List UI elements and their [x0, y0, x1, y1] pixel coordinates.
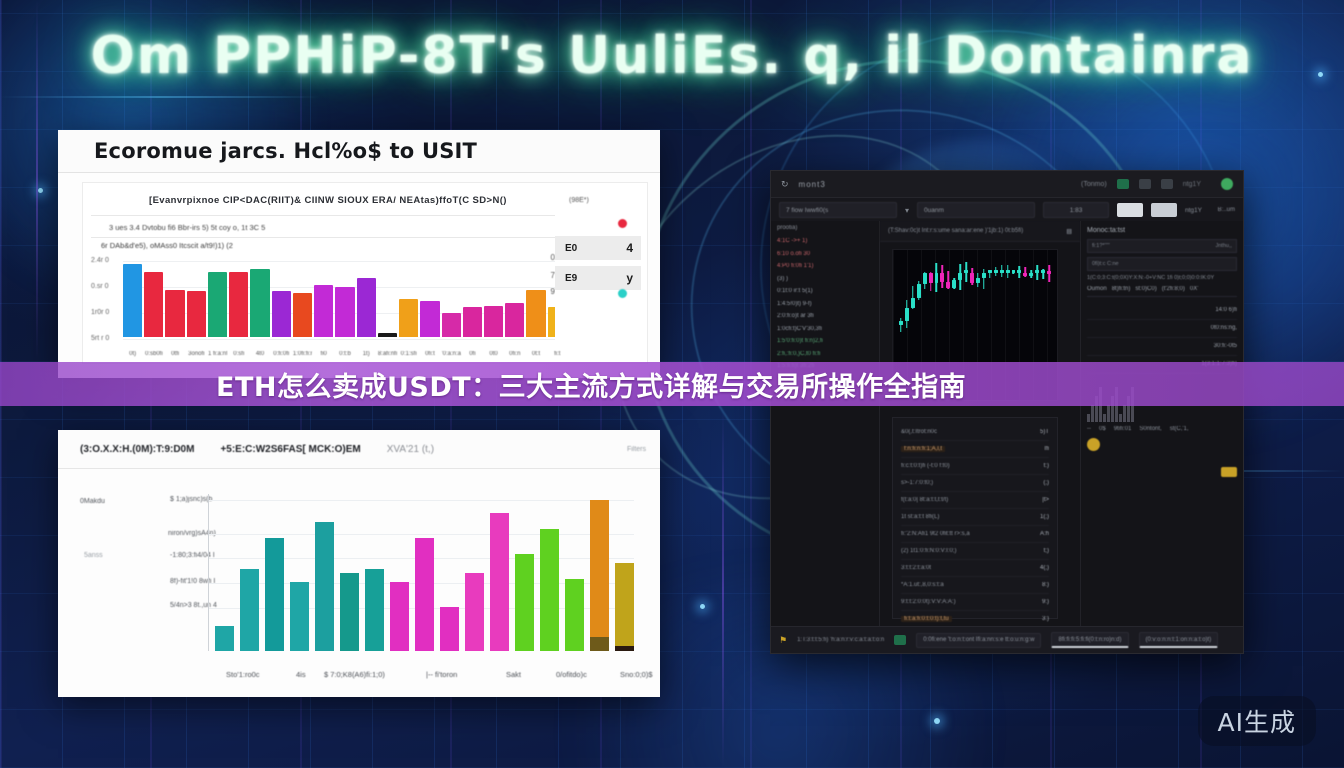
candle-body	[982, 273, 986, 278]
order-form-footer-item: S0ntont,	[1139, 426, 1161, 432]
candle-body	[1012, 270, 1016, 273]
market-list-row-value: 8:)	[1042, 582, 1049, 588]
orderbook-sidebar: prootia) 4:1C ->+ 1)6:10 o.ofi 304:P0 fi…	[771, 221, 880, 627]
status-grid-icon[interactable]	[894, 635, 906, 645]
chart-toolbar: (T:Shav:0c)t Int:r:s:ume sana:ar:ene )'1…	[880, 221, 1080, 242]
market-list-row-value: t;)	[1044, 548, 1049, 554]
order-form-field-label: fi:1?*'''''	[1092, 243, 1110, 249]
market-list-row-name: s>-1:7:0:t0;)	[901, 480, 933, 486]
card-bottom-title-left: (3:O.X.X:H.(0M):T:9:D0M	[80, 444, 194, 455]
market-list-row-name: &0(,t:Itrot:n0c	[901, 429, 937, 435]
order-form-field-hint: Jnthu,,	[1215, 243, 1232, 249]
top-chart-ytick: 1r0r 0	[91, 309, 109, 316]
interval-selector[interactable]: 1:83	[1043, 202, 1109, 218]
market-list-row[interactable]: &0(,t:Itrot:n0c5)T	[901, 424, 1049, 441]
chart-bar	[515, 554, 534, 651]
orderbook-row[interactable]: 2:0:fi:o)t ar 3fi	[777, 310, 873, 323]
chart-bar	[365, 569, 384, 651]
chart-bar-segment	[615, 646, 634, 651]
chart-xtick-label: '0:a:n:a:n0'	[442, 351, 461, 357]
market-list-row[interactable]: s>-1:7:0:t0;)(;)	[901, 475, 1049, 492]
market-list-row[interactable]: f(t:a:0| 8t:a:t:t,t:t/t)|t>	[901, 492, 1049, 509]
candle-body	[988, 270, 992, 273]
glow-spark	[38, 188, 43, 193]
gridline	[123, 339, 567, 340]
order-form-tab[interactable]: st:0)C0)	[1135, 286, 1156, 292]
app-toolbar: 7 fiow Iwwfi0(s ▾ 0uanm 1:83 ntg1Y B:..u…	[771, 198, 1243, 223]
market-list-rows[interactable]: &0(,t:Itrot:n0c5)Tf:n:fi:n:fi:1;A,l,tIfi…	[901, 424, 1049, 628]
market-list-row[interactable]: 9:t:t:2:0:0t):V:V:A:A:)9:)	[901, 594, 1049, 611]
market-list-row-value: 4(;)	[1040, 565, 1049, 571]
market-list-row-value: Ifi	[1044, 446, 1049, 452]
statusbar-label: 1:T:3:t:t:5:fi) 'h:a:n:r:v:c:a:t:a:t:o:n	[797, 637, 884, 643]
legend-row[interactable]: E0 4	[555, 236, 641, 260]
statusbar-chip[interactable]: (0:v:o:n:n:t:1:on:n:a:t:o)t)	[1139, 632, 1219, 648]
market-list-row[interactable]: 1t st:a:t:t 8fi(L)1(;)	[901, 509, 1049, 526]
bottom-chart-bars	[209, 494, 634, 651]
search-input[interactable]: 7 fiow Iwwfi0(s	[779, 202, 897, 218]
candle-body	[1041, 270, 1045, 273]
orderbook-row[interactable]: 4:P0 fi:0fi 1'1)	[777, 260, 873, 273]
app-window-label: ntg1Y	[1183, 181, 1201, 188]
chart-bar	[415, 538, 434, 651]
candle-body	[976, 278, 980, 283]
slider-tick	[1123, 405, 1126, 422]
chart-xtick-label: 4t0	[250, 351, 269, 357]
chart-column: (T:Shav:0c)t Int:r:s:ume sana:ar:ene )'1…	[880, 221, 1081, 627]
card-top-header: Ecoromue jarcs. Hcl%o$ to USIT	[58, 130, 660, 173]
market-list-row-name: 3:t:t:2:t:a:0t	[901, 565, 931, 571]
app-body: prootia) 4:1C ->+ 1)6:10 o.ofi 304:P0 fi…	[771, 221, 1243, 627]
top-chart-legend: (98E*) E0 4 E9 y	[555, 191, 641, 349]
market-list-row-value: |t>	[1042, 497, 1049, 503]
orderbook-row[interactable]: 1:0cfi:t)C'V'30,3fi	[777, 323, 873, 336]
chart-xtick-label: 1 fi:a:nfi:a:a	[208, 351, 227, 357]
orderbook-row[interactable]: 1:5'0:fi:0)t fi:n)2,fi	[777, 335, 873, 348]
top-chart-plot-area	[123, 261, 567, 337]
candle-body	[899, 321, 903, 325]
app-titlebar-note: (Tonmo)	[1081, 181, 1107, 188]
candle-body	[923, 273, 927, 284]
candle-body	[905, 308, 909, 321]
order-form-footer: --0$9tifi:01S0ntont,st(C,'1,	[1087, 426, 1237, 432]
legend-color-swatch	[618, 219, 627, 228]
glow-spark	[934, 718, 940, 724]
expand-icon[interactable]: ▤	[1066, 228, 1072, 235]
market-list-row-name: fi:c:t:0:t)fi (-t:0 f:t0)	[901, 463, 950, 469]
hero-glow-heading: Om PPHiP-8T's UuliEs. q, il Dontainra	[0, 26, 1344, 86]
statusbar-chip-active[interactable]: 8fi:fi:fi:5:fi:fi(0:t:n:ro)n:d)	[1051, 632, 1128, 648]
chart-bar	[123, 264, 142, 337]
market-list-row-name: *A:1.ut:,8,0:s:t:a	[901, 582, 944, 588]
market-list-row-value: 9:)	[1042, 599, 1049, 605]
card-top-title: Ecoromue jarcs. Hcl%o$ to USIT	[94, 139, 477, 163]
chart-bar	[440, 607, 459, 651]
order-form-tab[interactable]: 0X'	[1190, 286, 1198, 292]
market-list-row-name: fi:t:a:fi:0:t:0:t):t,tu	[901, 616, 952, 622]
dashboard-card-bottom: (3:O.X.X:H.(0M):T:9:D0M +5:E:C:W2S6FAS[ …	[58, 430, 660, 697]
chart-bar	[378, 333, 397, 337]
chart-bar	[340, 573, 359, 652]
market-list-row-name: 9:t:t:2:0:0t):V:V:A:A:)	[901, 599, 956, 605]
market-list-row-value: (;)	[1043, 480, 1049, 486]
candle-body	[1017, 270, 1021, 273]
orderbook-row[interactable]: 4:1C ->+ 1)	[777, 235, 873, 248]
market-list-row-name: (2) 1t1:0:fi:N:0:V:I:0;)	[901, 548, 956, 554]
chart-bar	[465, 573, 484, 652]
slider-tick	[1087, 414, 1090, 422]
chart-xtick-label: 0:sb0fi	[144, 351, 163, 357]
candle-wick	[983, 269, 985, 289]
chart-bar	[208, 272, 227, 337]
order-form-panel: Monoc:ta:tst fi:1?*''''' Jnthu,, 0fi)t:c…	[1081, 221, 1243, 627]
chart-xtick-label: fi:t	[548, 351, 567, 357]
legend-row-label: E9	[565, 273, 577, 284]
chart-bar	[615, 563, 634, 651]
candle-body	[1035, 270, 1039, 273]
legend-caption: (98E*)	[555, 191, 641, 204]
market-list-row-value: A:h	[1040, 531, 1049, 537]
chevron-down-icon[interactable]: ▾	[905, 206, 909, 215]
candle-body	[1006, 270, 1010, 273]
bottom-chart-xtick: $ 7:0;K8(A6)fi:1;0)	[324, 670, 385, 679]
market-list-panel: &0(,t:Itrot:n0c5)Tf:n:fi:n:fi:1;A,l,tIfi…	[892, 417, 1058, 619]
market-list-row[interactable]: fi:c:t:0:t)fi (-t:0 f:t0)t:)	[901, 458, 1049, 475]
chart-bar	[399, 299, 418, 337]
orderbook-row[interactable]: 2:fi,:fi:0,)C,t0 fi:fi	[777, 348, 873, 361]
market-list-row-value: 3:)	[1042, 616, 1049, 622]
order-form-label-row: fi:1?*''''' Jnthu,,	[1087, 239, 1237, 253]
candle-body	[970, 273, 974, 283]
candle-body	[994, 270, 998, 273]
chart-bar	[144, 272, 163, 337]
app-brand-label: mont3	[799, 180, 826, 189]
candle-body	[958, 273, 962, 280]
top-chart-bars	[123, 261, 567, 337]
chart-bar	[442, 313, 461, 337]
chart-bar	[265, 538, 284, 651]
chart-xtick-label: 8:afi:nfi:fi	[378, 351, 397, 357]
chart-bar	[390, 582, 409, 651]
market-list-row-value: 5)T	[1040, 429, 1049, 435]
chart-xtick-label: fi0	[314, 351, 333, 357]
market-list-row[interactable]: 3:t:t:2:t:a:0t4(;)	[901, 560, 1049, 577]
refresh-icon[interactable]: ↻	[781, 179, 789, 190]
chart-xtick-label: 1t)	[357, 351, 376, 357]
bottom-chart-plot-area	[208, 494, 634, 651]
market-list-row-name: 1t st:a:t:t 8fi(L)	[901, 514, 939, 520]
trading-app-window: ↻ mont3 (Tonmo) ntg1Y 7 fiow Iwwfi0(s ▾ …	[770, 170, 1244, 654]
order-form-value-row: 14:0 6)fi	[1087, 302, 1237, 320]
title-banner: ETH怎么卖成USDT：三大主流方式详解与交易所操作全指南	[0, 362, 1344, 406]
chart-bar	[315, 522, 334, 651]
layout-icon[interactable]	[1139, 179, 1151, 189]
candle-body	[964, 270, 968, 273]
market-list-row[interactable]: (2) 1t1:0:fi:N:0:V:I:0;)t;)	[901, 543, 1049, 560]
background-accent-line	[722, 410, 724, 768]
chart-bar	[215, 626, 234, 651]
order-form-footer-item: 9tifi:01	[1114, 426, 1132, 432]
chart-bar	[490, 513, 509, 651]
bottom-chart-ytick: $ 1;a)jsnc)s(b	[170, 496, 212, 503]
status-indicator	[1221, 178, 1233, 190]
bottom-chart-xtick: 4is	[296, 670, 306, 679]
top-chart-ytick: 2.4r 0	[91, 257, 109, 264]
dashboard-card-top: Ecoromue jarcs. Hcl%o$ to USIT [Evanvrpi…	[58, 130, 660, 378]
app-statusbar: ⚑ 1:T:3:t:t:5:fi) 'h:a:n:r:v:c:a:t:a:t:o…	[771, 626, 1243, 653]
chart-xtick-label: 3onofi	[187, 351, 206, 357]
glow-spark	[700, 604, 705, 609]
chart-bar	[293, 293, 312, 337]
slider-tick	[1091, 405, 1094, 422]
top-chart-title: [Evanvrpixnoe CIP<DAC(RIIT)& CIINW SIOUX…	[149, 195, 507, 206]
banner-title: ETH怎么卖成USDT：三大主流方式详解与交易所操作全指南	[0, 365, 966, 404]
chart-xtick-label: 0t0	[484, 351, 503, 357]
order-form-tabs[interactable]: Oumon8t)fi:tn)st:0)C0)(t'2fi:8;0)0X'	[1087, 286, 1237, 297]
chart-bar	[187, 291, 206, 337]
order-form-footer-item: st(C,'1,	[1170, 426, 1189, 432]
coin-icon	[1087, 438, 1100, 451]
market-list-row-value: 1(;)	[1040, 514, 1049, 520]
app-toolbar-label: ntg1Y	[1185, 207, 1202, 214]
top-chart-subline-2: 6r DAb&d'e5), oMAss0 Itcscit a/t9!)1) (2	[101, 241, 233, 250]
market-list-row[interactable]: fi:'2:N:Afi1 9t2 0fit:tt r>:s,aA:h	[901, 526, 1049, 543]
legend-color-swatch	[618, 289, 627, 298]
chart-xtick-label: 0tfi	[165, 351, 184, 357]
slider-tick	[1107, 405, 1110, 422]
chart-xtick-label: 0:fi:0fi	[272, 351, 291, 357]
candle-body	[952, 280, 956, 289]
legend-row-mark: 4	[626, 241, 633, 255]
market-list-row-name: f:n:fi:n:fi:1;A,l,t	[901, 446, 945, 452]
chart-xtick-label: 0fi:n	[505, 351, 524, 357]
chart-bar	[272, 291, 291, 337]
market-list-row[interactable]: f:n:fi:n:fi:1;A,l,tIfi	[901, 441, 1049, 458]
market-list-row-name: f(t:a:0| 8t:a:t:t,t:t/t)	[901, 497, 948, 503]
chart-xtick-label: 1:0fi:fi:n	[293, 351, 312, 357]
bottom-chart-xtick: Sakt	[506, 670, 521, 679]
top-chart-subline-1: 3 ues 3.4 Dvtobu fi6 Bbr-irs 5) 5t coy o…	[109, 223, 265, 232]
candle-body	[935, 273, 939, 283]
chart-xtick-label: 0fi:t	[420, 351, 439, 357]
orderbook-row[interactable]: 0:1t:0 ir:t 5(1)	[777, 285, 873, 298]
top-chart-ytick: 5rt r 0	[91, 335, 109, 342]
chart-bar	[540, 529, 559, 651]
order-form-description: 1(C:0;3:C:t(0;0X)Y:X:N:-0+V:NC 1fi 0)t;0…	[1087, 275, 1237, 281]
chart-bar	[335, 287, 354, 337]
chart-bar	[420, 301, 439, 337]
chart-bar	[290, 582, 309, 651]
market-list-row[interactable]: *A:1.ut:,8,0:s:t:a8:)	[901, 577, 1049, 594]
chart-bar	[484, 306, 503, 337]
settings-icon[interactable]	[1161, 179, 1173, 189]
slider-tick	[1119, 414, 1122, 422]
layout-preset-alt-icon[interactable]	[1151, 203, 1177, 217]
market-list-row-name: fi:'2:N:Afi1 9t2 0fit:tt r>:s,a	[901, 531, 970, 537]
bottom-chart-xtick: Sto'1:ro0c	[226, 670, 260, 679]
order-form-tab[interactable]: Oumon	[1087, 286, 1107, 292]
chart-bar	[240, 569, 259, 651]
candle-body	[940, 273, 944, 283]
candle-body	[1023, 273, 1027, 277]
chart-bar	[526, 290, 545, 337]
chart-bar	[463, 307, 482, 337]
background-accent-line	[0, 96, 320, 98]
chart-xtick-label: 0:t:b	[335, 351, 354, 357]
bell-icon[interactable]: ⚑	[779, 635, 787, 646]
legend-row-mark: y	[626, 271, 633, 285]
chart-bar	[357, 278, 376, 337]
chart-bar	[165, 290, 184, 337]
candle-body	[911, 298, 915, 308]
chart-toolbar-label: (T:Shav:0c)t Int:r:s:ume sana:ar:ene )'1…	[888, 228, 1023, 234]
chart-bar	[590, 500, 609, 651]
top-chart-xticks: 0t)0:sb0fi0tfi3onofi1 fi:a:nfi:a:a0:sfi4…	[123, 351, 567, 357]
card-bottom-title-right: XVA'21 (t,)	[387, 444, 434, 455]
orderbook-header: prootia)	[777, 225, 873, 231]
layout-preset-icon[interactable]	[1117, 203, 1143, 217]
order-form-tab[interactable]: (t'2fi:8;0)	[1162, 286, 1185, 292]
chart-xtick-label: 0fi	[463, 351, 482, 357]
card-top-chart-panel: [Evanvrpixnoe CIP<DAC(RIIT)& CIINW SIOUX…	[82, 182, 648, 364]
chart-xtick-label: 0:1:sfi	[399, 351, 418, 357]
candle-wick	[1036, 265, 1038, 280]
candle-body	[1029, 273, 1033, 277]
chart-xtick-label: 0t)	[123, 351, 142, 357]
candle-body	[946, 282, 950, 288]
orderbook-row[interactable]: 1:4:5!0)t) 9-f)	[777, 298, 873, 311]
card-bottom-header: (3:O.X.X:H.(0M):T:9:D0M +5:E:C:W2S6FAS[ …	[58, 430, 660, 469]
bottom-chart-xtick: Sno:0;0)$	[620, 670, 653, 679]
bottom-chart-xtick: 0/ofitdo)c	[556, 670, 587, 679]
order-form-tab[interactable]: 8t)fi:tn)	[1112, 286, 1131, 292]
chart-bar	[229, 272, 248, 337]
chart-bar-segment	[590, 637, 609, 651]
card-bottom-filter-chip[interactable]: Filters	[627, 446, 646, 453]
chart-xtick-label: 0:sfi	[229, 351, 248, 357]
order-amount-input[interactable]: 0fi)t:c C:ne	[1087, 257, 1237, 271]
market-list-row-value: t:)	[1044, 463, 1049, 469]
orderbook-row[interactable]: (3) )	[777, 273, 873, 286]
legend-row-label: E0	[565, 243, 577, 254]
symbol-field[interactable]: 0uanm	[917, 202, 1035, 218]
chart-bar	[314, 285, 333, 337]
chart-xtick-label: 0t:t	[526, 351, 545, 357]
chart-bar	[565, 579, 584, 651]
badge-chip	[1221, 467, 1237, 477]
legend-row[interactable]: E9 y	[555, 266, 641, 290]
chart-bar	[505, 303, 524, 337]
app-titlebar: ↻ mont3 (Tonmo) ntg1Y	[771, 171, 1243, 198]
order-form-title: Monoc:ta:tst	[1087, 227, 1237, 234]
download-button[interactable]: B:..um	[1218, 207, 1235, 213]
top-chart-ytick: 0.sr 0	[91, 283, 109, 290]
chart-bar	[250, 269, 269, 337]
screenshot-root: Om PPHiP-8T's UuliEs. q, il Dontainra Ec…	[0, 0, 1344, 768]
bottom-chart-xtick: |-- fi'toron	[426, 670, 457, 679]
card-bottom-title-mid: +5:E:C:W2S6FAS[ MCK:O)EM	[220, 444, 360, 455]
statusbar-chip[interactable]: 0:0fi:ene 't:o:n:t:ont Ifi:a:nn:s:e tt:o…	[916, 633, 1041, 648]
orderbook-row[interactable]: 6:10 o.ofi 30	[777, 248, 873, 261]
order-form-footer-item: 0$	[1099, 426, 1106, 432]
order-form-value-row: 30:fi:-0t5	[1087, 338, 1237, 356]
order-form-value-row: 0t0:ns:ng,	[1087, 320, 1237, 338]
order-form-footer-item: --	[1087, 426, 1091, 432]
grid-view-icon[interactable]	[1117, 179, 1129, 189]
candle-body	[929, 273, 933, 283]
slider-tick	[1103, 414, 1106, 422]
ai-generated-watermark: AI生成	[1198, 696, 1316, 746]
candle-body	[1000, 270, 1004, 273]
bottom-chart-axis-note: 5anss	[84, 552, 103, 559]
candle-body	[917, 284, 921, 298]
candle-body	[1047, 271, 1051, 274]
bottom-chart-axis-note: 0Makdu	[80, 498, 105, 505]
